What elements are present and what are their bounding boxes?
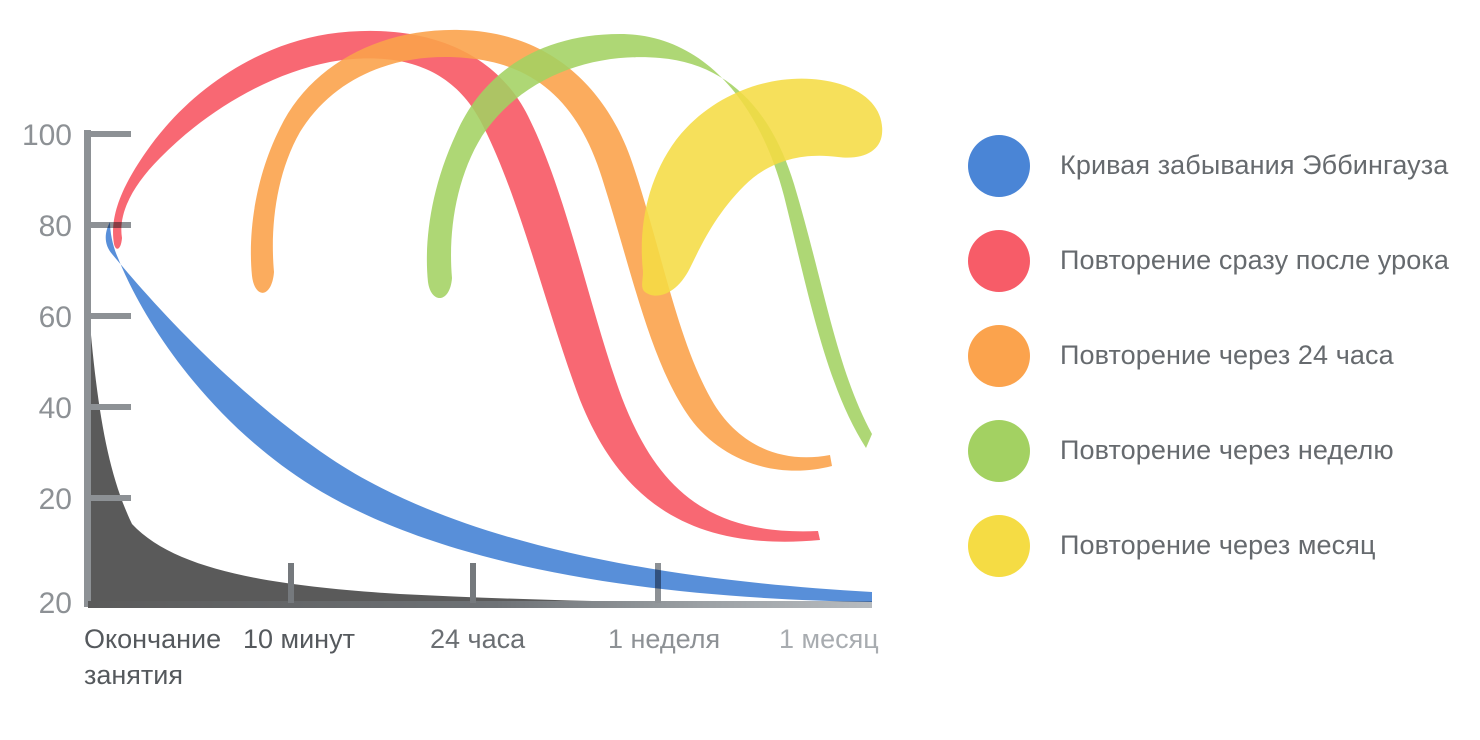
y-tick-label: 60	[39, 301, 72, 334]
legend-item-immediate[interactable]: Повторение сразу после урока	[968, 213, 1468, 308]
y-tick-label: 100	[22, 119, 72, 152]
x-tick-label-end-of-lesson-line2: занятия	[84, 660, 183, 690]
series-path-month	[642, 79, 882, 296]
y-tick-label: 80	[39, 210, 72, 243]
y-axis-line	[84, 130, 91, 607]
y-axis-labels: 100 80 60 40 20 20	[22, 119, 72, 620]
legend-item-label: Кривая забывания Эббингауза	[1060, 150, 1448, 181]
chart-root: 100 80 60 40 20 20 Окончание занятия 10 …	[0, 0, 1480, 740]
legend-item-label: Повторение сразу после урока	[1060, 245, 1449, 276]
legend-color-circle-icon	[968, 515, 1030, 577]
series-path-ebbinghaus	[106, 222, 872, 602]
y-tick-label: 20	[39, 483, 72, 516]
legend-item-label: Повторение через месяц	[1060, 530, 1376, 561]
legend-item-ebbinghaus[interactable]: Кривая забывания Эббингауза	[968, 118, 1468, 213]
legend-color-circle-icon	[968, 420, 1030, 482]
legend-color-circle-icon	[968, 135, 1030, 197]
legend-item-24h[interactable]: Повторение через 24 часа	[968, 308, 1468, 403]
y-tick-label: 40	[39, 392, 72, 425]
y-tick-label: 20	[39, 587, 72, 620]
x-tick-label-24-hours: 24 часа	[430, 624, 526, 654]
legend-item-label: Повторение через 24 часа	[1060, 340, 1394, 371]
curve-group	[106, 30, 882, 602]
legend-item-week[interactable]: Повторение через неделю	[968, 403, 1468, 498]
x-axis-line	[88, 601, 872, 608]
x-tick-label-1-month: 1 месяц	[779, 624, 879, 654]
x-tick-label-1-week: 1 неделя	[608, 624, 720, 654]
legend-item-month[interactable]: Повторение через месяц	[968, 498, 1468, 593]
chart-legend: Кривая забывания Эббингауза Повторение с…	[968, 118, 1468, 593]
legend-color-circle-icon	[968, 230, 1030, 292]
legend-color-circle-icon	[968, 325, 1030, 387]
x-tick-label-end-of-lesson: Окончание	[84, 624, 221, 654]
legend-item-label: Повторение через неделю	[1060, 435, 1394, 466]
x-tick-label-10-minutes: 10 минут	[243, 624, 355, 654]
x-axis-labels: Окончание занятия 10 минут 24 часа 1 нед…	[84, 624, 879, 690]
